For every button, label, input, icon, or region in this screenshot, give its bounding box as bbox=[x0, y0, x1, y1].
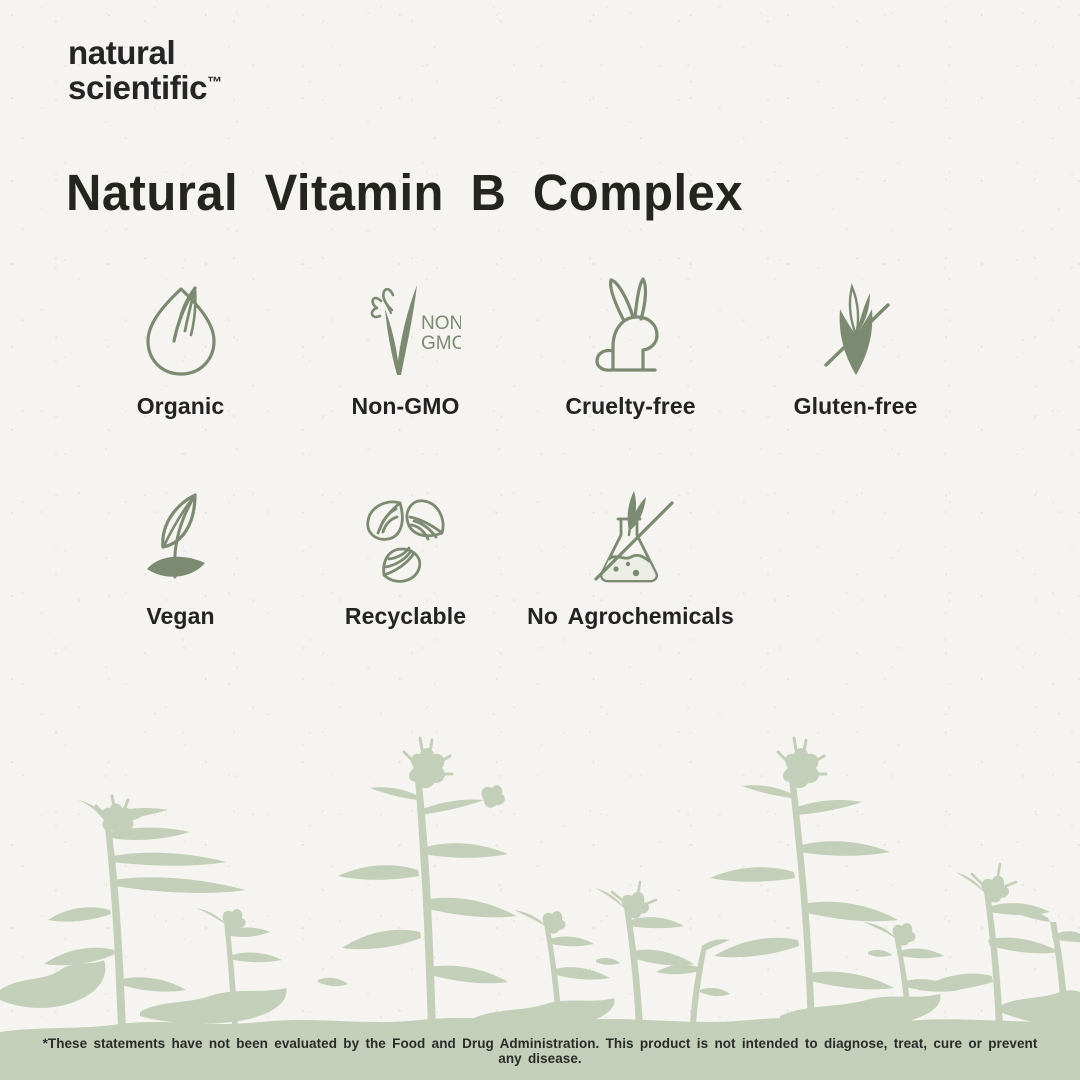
badge-gluten-free: Gluten-free bbox=[743, 275, 968, 485]
rabbit-icon bbox=[583, 275, 679, 379]
wheat-slash-icon bbox=[808, 275, 904, 379]
recycle-leaves-icon bbox=[356, 485, 456, 589]
brand-logo-line-2: scientific™ bbox=[68, 71, 222, 106]
badge-cruelty-free: Cruelty-free bbox=[518, 275, 743, 485]
badge-non-gmo: NON GMO Non-GMO bbox=[293, 275, 518, 485]
brand-logo-word: scientific bbox=[68, 69, 207, 106]
fda-disclaimer: *These statements have not been evaluate… bbox=[0, 1036, 1080, 1066]
leaf-droplet-icon bbox=[138, 275, 224, 379]
badge-label: Cruelty-free bbox=[565, 393, 695, 420]
badge-label: Vegan bbox=[146, 603, 214, 630]
infographic-page: natural scientific™ Natural Vitamin B Co… bbox=[0, 0, 1080, 1080]
certification-badge-grid: Organic NON GMO Non-GMO bbox=[68, 275, 1008, 695]
badge-label: No Agrochemicals bbox=[527, 603, 734, 630]
page-title: Natural Vitamin B Complex bbox=[66, 163, 743, 222]
flask-slash-icon bbox=[576, 485, 686, 589]
non-gmo-mark-line-1: NON bbox=[421, 313, 461, 334]
trademark-symbol: ™ bbox=[207, 74, 222, 91]
sprout-leaf-icon bbox=[133, 485, 229, 589]
badge-label: Organic bbox=[137, 393, 225, 420]
badge-label: Gluten-free bbox=[794, 393, 918, 420]
botanical-silhouette-band bbox=[0, 660, 1080, 1080]
non-gmo-mark-line-2: GMO bbox=[421, 333, 461, 354]
brand-logo-line-1: natural bbox=[68, 36, 222, 71]
badge-label: Non-GMO bbox=[351, 393, 459, 420]
non-gmo-butterfly-leaf-icon: NON GMO bbox=[351, 275, 461, 379]
badge-organic: Organic bbox=[68, 275, 293, 485]
badge-label: Recyclable bbox=[345, 603, 466, 630]
meadow-silhouette bbox=[0, 660, 1080, 1080]
brand-logo: natural scientific™ bbox=[68, 36, 222, 106]
